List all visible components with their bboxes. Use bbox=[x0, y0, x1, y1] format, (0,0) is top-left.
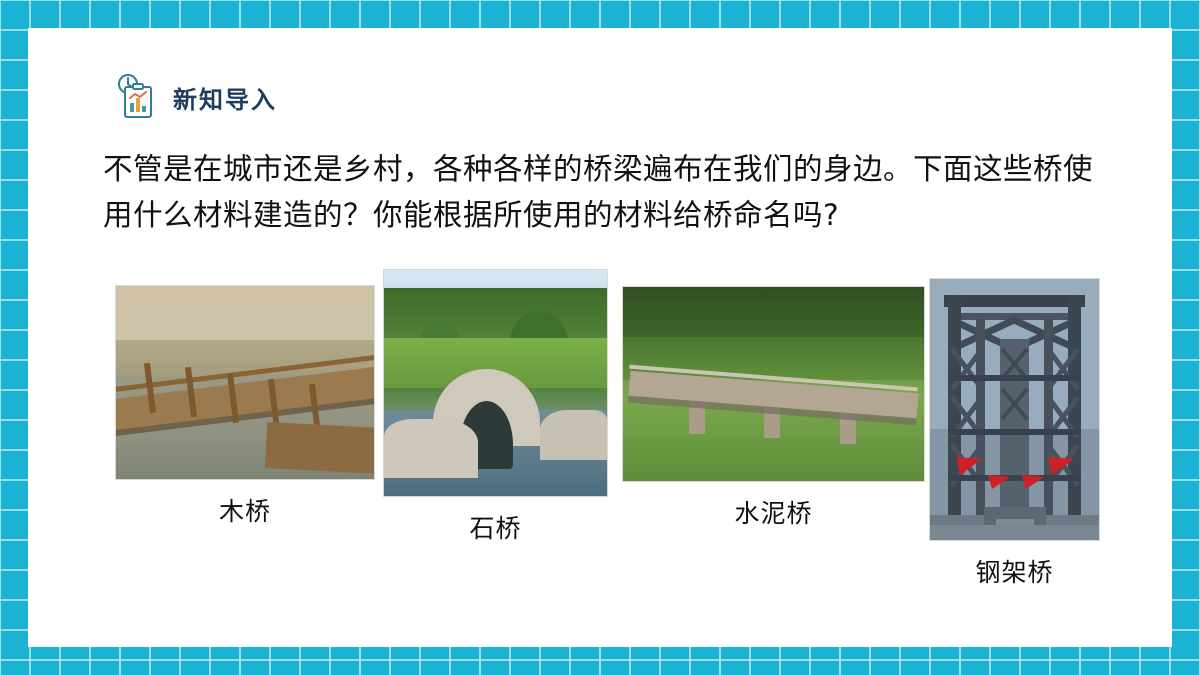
concrete-bridge-photo[interactable]: 水泥桥 bbox=[622, 286, 925, 530]
slide-canvas: 新知导入 不管是在城市还是乡村，各种各样的桥梁遍布在我们的身边。下面这些桥使用什… bbox=[0, 0, 1200, 675]
steel-bridge-photo[interactable]: 钢架桥 bbox=[929, 278, 1100, 589]
concrete-bridge-image bbox=[622, 286, 925, 482]
wooden-bridge-caption: 木桥 bbox=[115, 492, 375, 528]
slide-content-card: 新知导入 不管是在城市还是乡村，各种各样的桥梁遍布在我们的身边。下面这些桥使用什… bbox=[28, 28, 1172, 647]
stone-bridge-image bbox=[383, 269, 608, 497]
steel-bridge-image bbox=[929, 278, 1100, 541]
stone-bridge-photo[interactable]: 石桥 bbox=[383, 269, 608, 545]
wooden-bridge-photo[interactable]: 木桥 bbox=[115, 285, 375, 528]
stone-bridge-caption: 石桥 bbox=[383, 509, 608, 545]
steel-bridge-caption: 钢架桥 bbox=[929, 553, 1100, 589]
wooden-bridge-image bbox=[115, 285, 375, 480]
photo-gallery: 木桥 石桥 bbox=[28, 28, 1172, 647]
steel-truss-graphic bbox=[930, 279, 1099, 540]
concrete-bridge-caption: 水泥桥 bbox=[622, 494, 925, 530]
